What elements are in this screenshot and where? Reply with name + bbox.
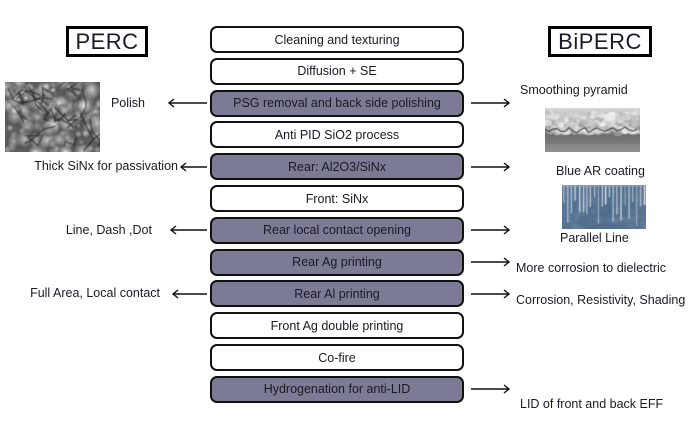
process-step-box: Co-fire — [210, 344, 464, 371]
left-process-title: PERC — [66, 26, 148, 57]
right-process-title: BiPERC — [548, 26, 652, 57]
process-step-box: Front Ag double printing — [210, 312, 464, 339]
right-annotation-label: Corrosion, Resistivity, Shading — [516, 294, 685, 307]
process-step-box: PSG removal and back side polishing — [210, 90, 464, 117]
right-arrow — [470, 96, 510, 108]
process-step-box: Rear Ag printing — [210, 249, 464, 276]
left-annotation-label: Line, Dash ,Dot — [66, 224, 152, 237]
right-arrow — [470, 223, 510, 235]
process-step-box: Front: SiNx — [210, 185, 464, 212]
process-step-box: Rear: Al2O3/SiNx — [210, 153, 464, 180]
right-arrow — [470, 255, 510, 267]
process-step-box: Diffusion + SE — [210, 58, 464, 85]
right-arrow — [470, 160, 510, 172]
process-step-box: Cleaning and texturing — [210, 26, 464, 53]
left-annotation-label: Full Area, Local contact — [30, 287, 160, 300]
left-arrow — [170, 223, 208, 235]
sem-polished-surface-image — [5, 82, 100, 152]
process-step-box: Rear Al printing — [210, 280, 464, 307]
process-step-box: Hydrogenation for anti-LID — [210, 376, 464, 403]
left-arrow — [168, 96, 208, 108]
left-arrow — [172, 287, 208, 299]
right-arrow — [470, 287, 510, 299]
right-annotation-label: LID of front and back EFF — [520, 398, 663, 411]
right-annotation-label: More corrosion to dielectric — [516, 262, 666, 275]
blue-ar-coating-image — [562, 185, 646, 229]
right-annotation-label: Smoothing pyramid — [520, 84, 628, 97]
process-flow-diagram: PERC BiPERC Cleaning and texturingDiffus… — [0, 0, 700, 422]
process-step-box: Anti PID SiO2 process — [210, 121, 464, 148]
sem-smoothing-pyramid-image — [545, 108, 640, 152]
left-arrow — [180, 160, 208, 172]
left-annotation-label: Polish — [111, 97, 145, 110]
right-annotation-label: Parallel Line — [560, 232, 629, 245]
left-annotation-label: Thick SiNx for passivation — [34, 160, 178, 173]
right-annotation-label: Blue AR coating — [556, 165, 645, 178]
right-arrow — [470, 382, 510, 394]
process-step-box: Rear local contact opening — [210, 217, 464, 244]
